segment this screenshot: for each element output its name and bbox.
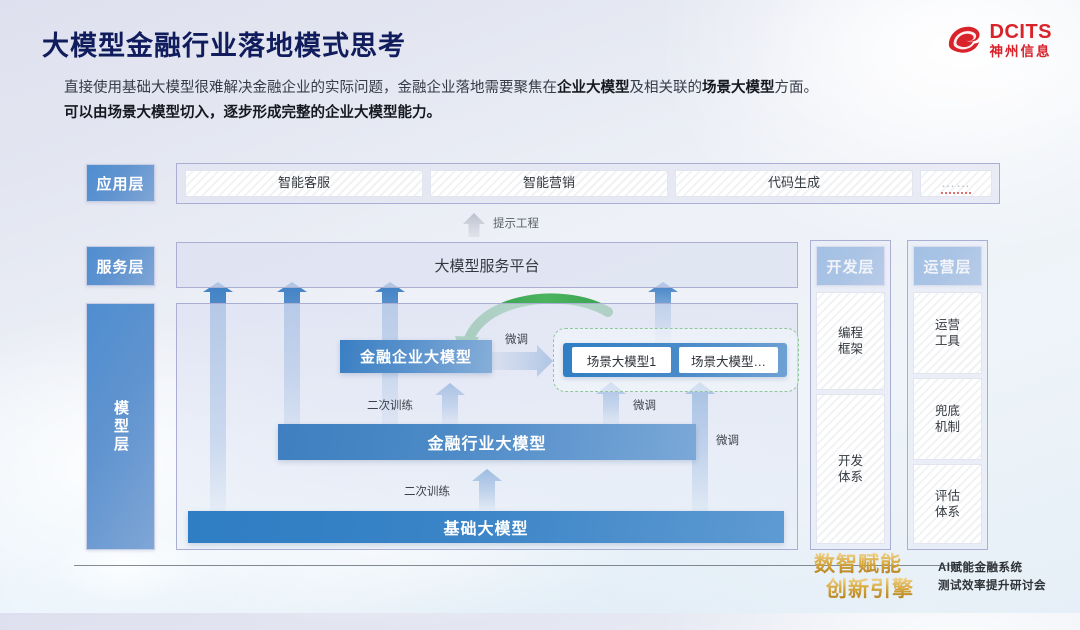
operation-item-2[interactable]: 评估体系	[913, 464, 982, 544]
layer-tag-service: 服务层	[86, 246, 155, 286]
industry-model-label: 金融行业大模型	[427, 430, 546, 454]
layer-tag-application: 应用层	[86, 164, 155, 202]
scene-model-chip-0[interactable]: 场景大模型1	[572, 347, 671, 373]
operation-item-1-label: 兜底机制	[935, 403, 960, 436]
service-platform-label: 大模型服务平台	[434, 255, 539, 276]
app-item-3[interactable]: ……	[920, 170, 992, 197]
app-item-0-label: 智能客服	[278, 175, 330, 192]
scene-model-chip-0-label: 场景大模型1	[587, 351, 656, 370]
development-item-1[interactable]: 开发体系	[816, 394, 885, 544]
label-second-training-1: 二次训练	[367, 397, 413, 413]
arrow-prompt-engineering	[463, 213, 485, 237]
enterprise-model-bar: 金融企业大模型	[340, 340, 492, 373]
operation-item-2-label: 评估体系	[935, 488, 960, 521]
scene-model-bar: 场景大模型1 场景大模型…	[563, 343, 787, 377]
industry-model-bar: 金融行业大模型	[278, 424, 696, 460]
event-name: AI赋能金融系统 测试效率提升研讨会	[938, 560, 1046, 596]
event-logo-icon: 数智赋能 创新引擎	[812, 548, 932, 606]
label-second-training-2: 二次训练	[404, 483, 450, 499]
scene-model-chip-1-label: 场景大模型…	[691, 351, 766, 370]
app-item-0[interactable]: 智能客服	[185, 170, 423, 197]
event-logo-line1: 数智赋能	[814, 552, 902, 576]
development-item-1-label: 开发体系	[838, 453, 863, 486]
service-platform-bar: 大模型服务平台	[176, 242, 798, 288]
scene-model-chip-1[interactable]: 场景大模型…	[679, 347, 778, 373]
base-model-label: 基础大模型	[443, 515, 528, 539]
development-item-0[interactable]: 编程框架	[816, 292, 885, 390]
development-item-0-label: 编程框架	[838, 325, 863, 358]
event-logo-line2: 创新引擎	[825, 577, 914, 601]
app-item-1-label: 智能营销	[523, 175, 575, 192]
label-prompt-engineering: 提示工程	[493, 215, 539, 231]
event-line-1: AI赋能金融系统	[938, 560, 1046, 578]
layer-tag-model: 模型层	[86, 303, 155, 550]
app-item-1[interactable]: 智能营销	[430, 170, 668, 197]
label-finetune-3: 微调	[716, 432, 739, 448]
operation-item-0-label: 运营工具	[935, 317, 960, 350]
operation-item-1[interactable]: 兜底机制	[913, 378, 982, 460]
app-item-2[interactable]: 代码生成	[675, 170, 913, 197]
event-line-2: 测试效率提升研讨会	[938, 578, 1046, 596]
enterprise-model-label: 金融企业大模型	[360, 346, 472, 367]
app-item-2-label: 代码生成	[768, 175, 820, 192]
app-item-3-label: ……	[941, 173, 971, 194]
operation-item-0[interactable]: 运营工具	[913, 292, 982, 374]
base-model-bar: 基础大模型	[188, 511, 784, 543]
label-finetune-2: 微调	[633, 397, 656, 413]
label-finetune-1: 微调	[505, 331, 528, 347]
